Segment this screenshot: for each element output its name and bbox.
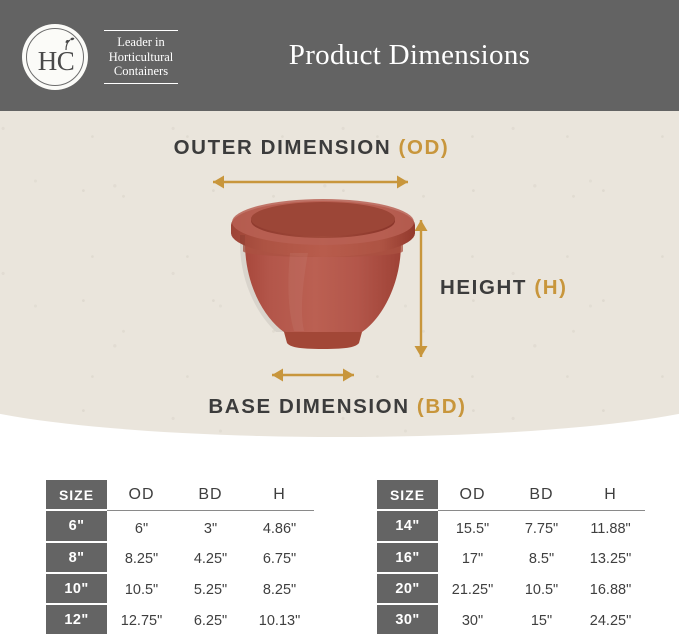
cell-size: 10" xyxy=(46,574,107,605)
table-row: 8" 8.25" 4.25" 6.75" xyxy=(46,543,314,574)
base-dimension-label: BASE DIMENSION (BD) xyxy=(0,395,679,419)
column-header-od: OD xyxy=(438,480,507,511)
cell-size: 12" xyxy=(46,605,107,636)
cell-bd: 7.75" xyxy=(507,511,576,543)
column-header-bd: BD xyxy=(176,480,245,511)
cell-bd: 4.25" xyxy=(176,543,245,574)
table-header-row: SIZE OD BD H xyxy=(46,480,314,511)
height-abbr: (H) xyxy=(534,276,567,299)
outer-dimension-name: OUTER DIMENSION xyxy=(174,136,392,159)
height-label: HEIGHT (H) xyxy=(440,276,568,300)
base-dimension-name: BASE DIMENSION xyxy=(208,395,409,418)
table-row: 30" 30" 15" 24.25" xyxy=(377,605,645,636)
cell-bd: 3" xyxy=(176,511,245,543)
cell-od: 8.25" xyxy=(107,543,176,574)
outer-dimension-abbr: (OD) xyxy=(399,136,450,159)
cell-od: 30" xyxy=(438,605,507,636)
cell-bd: 10.5" xyxy=(507,574,576,605)
table-row: 16" 17" 8.5" 13.25" xyxy=(377,543,645,574)
cell-od: 15.5" xyxy=(438,511,507,543)
cell-size: 8" xyxy=(46,543,107,574)
base-dimension-abbr: (BD) xyxy=(417,395,467,418)
column-header-bd: BD xyxy=(507,480,576,511)
cell-od: 12.75" xyxy=(107,605,176,636)
cell-bd: 5.25" xyxy=(176,574,245,605)
logo-circle-icon: HC xyxy=(22,24,88,90)
cell-h: 13.25" xyxy=(576,543,645,574)
cell-h: 16.88" xyxy=(576,574,645,605)
cell-size: 16" xyxy=(377,543,438,574)
cell-od: 17" xyxy=(438,543,507,574)
table-row: 10" 10.5" 5.25" 8.25" xyxy=(46,574,314,605)
height-name: HEIGHT xyxy=(440,276,527,299)
cell-size: 6" xyxy=(46,511,107,543)
cell-size: 14" xyxy=(377,511,438,543)
column-header-size: SIZE xyxy=(46,480,107,511)
cell-h: 11.88" xyxy=(576,511,645,543)
table-row: 14" 15.5" 7.75" 11.88" xyxy=(377,511,645,543)
outer-dimension-arrow-icon xyxy=(203,173,418,196)
cell-h: 8.25" xyxy=(245,574,314,605)
column-header-h: H xyxy=(245,480,314,511)
column-header-size: SIZE xyxy=(377,480,438,511)
cell-size: 20" xyxy=(377,574,438,605)
column-header-od: OD xyxy=(107,480,176,511)
cell-od: 6" xyxy=(107,511,176,543)
cell-size: 30" xyxy=(377,605,438,636)
logo-tagline: Leader in Horticultural Containers xyxy=(102,27,180,87)
table-row: 20" 21.25" 10.5" 16.88" xyxy=(377,574,645,605)
logo-rule-bottom xyxy=(104,83,178,84)
cell-h: 6.75" xyxy=(245,543,314,574)
cell-h: 4.86" xyxy=(245,511,314,543)
diagram-panel: OUTER DIMENSION (OD) HEIGHT (H) BASE DIM… xyxy=(0,111,679,437)
cell-h: 10.13" xyxy=(245,605,314,636)
logo-tagline-line-3: Containers xyxy=(102,64,180,79)
dimension-table-right: SIZE OD BD H 14" 15.5" 7.75" 11.88" 16" … xyxy=(377,480,645,636)
table-row: 12" 12.75" 6.25" 10.13" xyxy=(46,605,314,636)
cell-bd: 15" xyxy=(507,605,576,636)
sprout-icon xyxy=(56,37,76,56)
cell-od: 21.25" xyxy=(438,574,507,605)
cell-bd: 8.5" xyxy=(507,543,576,574)
outer-dimension-label: OUTER DIMENSION (OD) xyxy=(0,136,679,160)
cell-bd: 6.25" xyxy=(176,605,245,636)
cell-od: 10.5" xyxy=(107,574,176,605)
logo-rule-top xyxy=(104,30,178,31)
logo-tagline-line-1: Leader in xyxy=(102,35,180,50)
table-row: 6" 6" 3" 4.86" xyxy=(46,511,314,543)
planter-pot-illustration xyxy=(228,195,418,370)
cell-h: 24.25" xyxy=(576,605,645,636)
logo-tagline-line-2: Horticultural xyxy=(102,50,180,65)
page-header: HC Leader in Horticultural Containers Pr… xyxy=(0,0,679,111)
dimension-table-left: SIZE OD BD H 6" 6" 3" 4.86" 8" 8.25" 4.2… xyxy=(46,480,314,636)
brand-logo: HC Leader in Horticultural Containers xyxy=(22,24,180,90)
table-header-row: SIZE OD BD H xyxy=(377,480,645,511)
column-header-h: H xyxy=(576,480,645,511)
